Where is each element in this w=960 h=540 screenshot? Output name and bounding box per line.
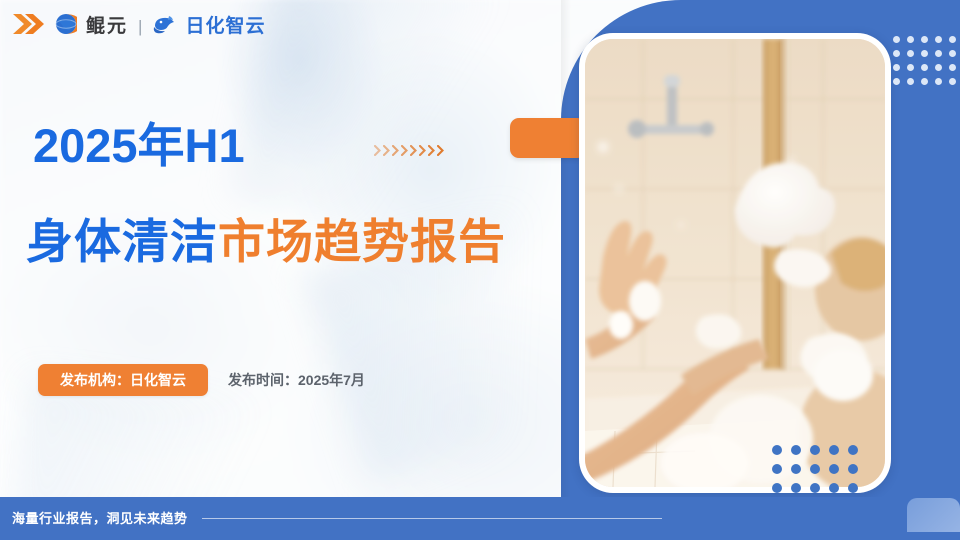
page-title-line-1: 2025年H1: [33, 122, 245, 169]
dot: [935, 78, 942, 85]
dot: [935, 36, 942, 43]
cover-photo-card: [579, 33, 891, 493]
dot: [893, 36, 900, 43]
brand-name-primary: 鲲元: [86, 17, 128, 36]
brand-logo-bar: 鲲元 | 日化智云: [12, 10, 265, 42]
publish-date-label: 发布时间：2025年7月: [228, 373, 365, 387]
publisher-badge: 发布机构：日化智云: [38, 364, 208, 396]
dot: [810, 464, 820, 474]
dot: [810, 483, 820, 493]
brand-divider: |: [138, 18, 142, 35]
footer-accent-block: [907, 498, 960, 532]
brand-name-secondary: 日化智云: [185, 17, 265, 36]
dot: [848, 445, 858, 455]
dot: [772, 464, 782, 474]
double-chevron-right-icon: [12, 13, 46, 40]
chevron-icon: [401, 143, 408, 154]
dot: [791, 483, 801, 493]
dot: [949, 78, 956, 85]
page-title-line-2-blue: 身体清洁: [26, 215, 218, 268]
dot: [791, 445, 801, 455]
dot: [949, 50, 956, 57]
footer-bar: 海量行业报告，洞见未来趋势: [0, 497, 960, 540]
dot: [829, 464, 839, 474]
dot: [848, 483, 858, 493]
dot: [907, 50, 914, 57]
dot: [893, 64, 900, 71]
dot: [791, 464, 801, 474]
footer-rule: [202, 518, 662, 519]
chevron-decoration: [374, 143, 444, 154]
chevron-icon: [437, 143, 444, 154]
chevron-icon: [392, 143, 399, 154]
dot: [907, 64, 914, 71]
dot: [907, 78, 914, 85]
dot-grid-top-right: [893, 36, 956, 85]
chevron-icon: [383, 143, 390, 154]
dot: [935, 64, 942, 71]
chevron-icon: [410, 143, 417, 154]
dot: [949, 64, 956, 71]
dot: [772, 445, 782, 455]
dot: [921, 64, 928, 71]
dot: [848, 464, 858, 474]
chevron-icon: [419, 143, 426, 154]
dot: [810, 445, 820, 455]
dot: [921, 78, 928, 85]
cover-photo: [585, 39, 885, 487]
chevron-icon: [374, 143, 381, 154]
dot: [829, 483, 839, 493]
dot: [829, 445, 839, 455]
dot: [935, 50, 942, 57]
dot: [772, 483, 782, 493]
globe-icon: [55, 13, 77, 40]
orange-accent-tab: [510, 118, 586, 158]
page-title-line-2-orange: 市场趋势报告: [218, 215, 506, 268]
dot: [893, 50, 900, 57]
chevron-icon: [428, 143, 435, 154]
dot: [921, 36, 928, 43]
dot: [949, 36, 956, 43]
report-cover-page: 鲲元 | 日化智云 2025年H1 身体清洁市场趋势报告 发布机构：日化智云 发…: [0, 0, 960, 540]
page-title-line-2: 身体清洁市场趋势报告: [26, 218, 506, 265]
dot: [921, 50, 928, 57]
whale-icon: [152, 13, 176, 40]
dot: [893, 78, 900, 85]
cover-photo-illustration: [585, 39, 885, 487]
footer-slogan: 海量行业报告，洞见未来趋势: [12, 512, 188, 525]
publication-meta: 发布机构：日化智云 发布时间：2025年7月: [38, 364, 365, 396]
dot: [907, 36, 914, 43]
